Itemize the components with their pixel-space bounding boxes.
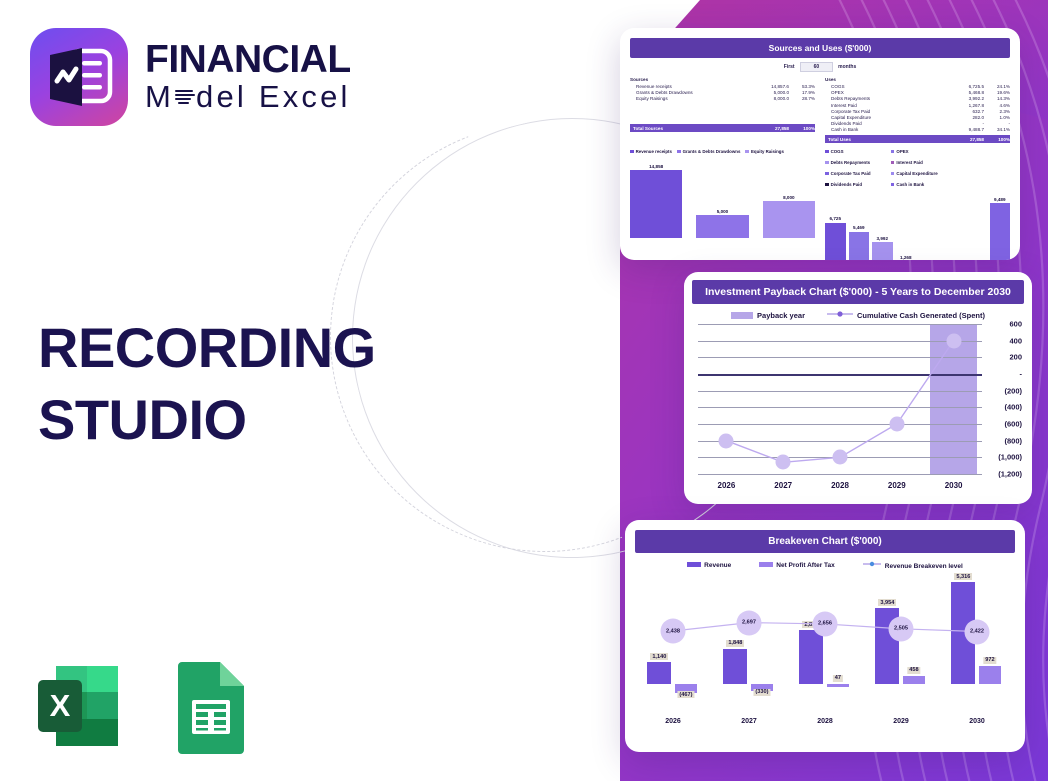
gridline (698, 474, 982, 475)
investment-payback-panel[interactable]: Investment Payback Chart ($'000) - 5 Yea… (684, 272, 1032, 504)
logo-line2-suffix: del Excel (196, 80, 351, 114)
sources-bar-chart: 14,8585,0008,000 (630, 154, 815, 238)
logo-stacked-o-glyph (175, 86, 195, 108)
breakeven-data-point: 2,438 (661, 619, 686, 644)
microsoft-excel-icon: X (30, 658, 126, 754)
use-value: 5,468.8 (946, 90, 984, 95)
use-value: 1,267.8 (946, 103, 984, 108)
svg-text:X: X (50, 688, 71, 723)
uses-total-value: 27,858 (946, 137, 984, 142)
breakeven-x-axis-labels: 20262027202820292030 (635, 718, 1015, 725)
uses-header: Uses (825, 77, 1010, 82)
legend-breakeven-level-label: Revenue Breakeven level (885, 563, 963, 570)
source-pct: 28.7% (789, 96, 815, 101)
legend-swatch (891, 150, 895, 154)
payback-chart-title: Investment Payback Chart ($'000) - 5 Yea… (692, 280, 1024, 304)
use-row: OPEX5,468.819.6% (825, 90, 1010, 96)
payback-x-axis-labels: 20262027202820292030 (698, 481, 982, 490)
legend-item: Corporate Tax Paid (825, 171, 885, 176)
legend-net-profit-label: Net Profit After Tax (776, 562, 835, 569)
source-value: 8,000.0 (751, 96, 789, 101)
use-label: Capital Expenditure (825, 115, 946, 120)
use-pct: 24.1% (984, 84, 1010, 89)
legend-swatch (630, 150, 634, 154)
uses-bar-chart: 6,7255,4693,9921,26863328209,489 (825, 187, 1010, 260)
legend-revenue-label: Revenue (704, 562, 731, 569)
use-row: Cash in Bank9,488.734.1% (825, 127, 1010, 133)
legend-swatch (825, 161, 829, 165)
use-value: - (946, 121, 984, 126)
bar-column: 9,489 (990, 187, 1011, 260)
legend-swatch (825, 172, 829, 176)
breakeven-plot-area: 1,1401,8482,8143,9545,316(467)(330)47458… (635, 574, 1015, 714)
bar-value-label: 5,469 (853, 225, 865, 230)
x-axis-tick-label: 2028 (812, 481, 869, 490)
y-axis-tick-label: (200) (1004, 386, 1022, 395)
y-axis-tick-label: (800) (1004, 436, 1022, 445)
months-input[interactable]: 60 (800, 62, 834, 72)
logo-title-line1: FINANCIAL (145, 40, 351, 80)
legend-label: Capital Expenditure (896, 171, 937, 176)
use-pct: 4.6% (984, 103, 1010, 108)
source-value: 5,000.0 (751, 90, 789, 95)
uses-total-label: Total Uses (825, 137, 946, 142)
legend-swatch (891, 161, 895, 165)
source-row: Revenue receipts14,857.653.3% (630, 84, 815, 90)
bar (990, 203, 1011, 260)
x-axis-tick-label: 2029 (863, 718, 939, 725)
first-label: First (784, 64, 795, 70)
uses-column: Uses COGS6,725.524.1%OPEX5,468.819.6%Deb… (825, 77, 1010, 143)
page-title-line2: STUDIO (38, 384, 376, 456)
sources-column: Sources Revenue receipts14,857.653.3%Gra… (630, 77, 815, 143)
first-months-row: First 60 months (630, 62, 1010, 72)
y-axis-tick-label: (600) (1004, 420, 1022, 429)
data-point (719, 433, 734, 448)
sources-total-label: Total Sources (630, 126, 751, 131)
use-value: 6,725.5 (946, 84, 984, 89)
data-point (946, 333, 961, 348)
legend-swatch (745, 150, 749, 154)
legend-label: Corporate Tax Paid (831, 171, 871, 176)
bar-column: 633 (919, 187, 940, 260)
use-pct: 1.0% (984, 115, 1010, 120)
breakeven-line-swatch (863, 560, 881, 568)
uses-total-row: Total Uses 27,858 100% (825, 135, 1010, 143)
use-label: COGS (825, 84, 946, 89)
legend-item: OPEX (891, 149, 951, 154)
use-value: 3,992.2 (946, 96, 984, 101)
bar-column: 8,000 (763, 154, 815, 238)
use-label: OPEX (825, 90, 946, 95)
logo-line2-prefix: M (145, 80, 174, 114)
legend-swatch (891, 183, 895, 187)
app-format-icons: X (30, 658, 250, 754)
y-axis-tick-label: (1,200) (998, 470, 1022, 479)
legend-item: Interest Paid (891, 160, 951, 165)
use-label: Corporate Tax Paid (825, 109, 946, 114)
y-axis-tick-label: (400) (1004, 403, 1022, 412)
bar (825, 223, 846, 260)
legend-label: COGS (831, 149, 844, 154)
use-label: Dividends Paid (825, 121, 946, 126)
legend-payback-year-label: Payback year (757, 311, 805, 320)
legend-label: Debts Repayments (831, 160, 871, 165)
breakeven-panel[interactable]: Breakeven Chart ($'000) Revenue Net Prof… (625, 520, 1025, 752)
logo-title-line2: M del Excel (145, 80, 351, 114)
use-row: COGS6,725.524.1% (825, 84, 1010, 90)
use-row: Interest Paid1,267.84.6% (825, 102, 1010, 108)
legend-item: Capital Expenditure (891, 171, 951, 176)
payback-year-swatch (731, 312, 753, 319)
bar-column: 5,000 (696, 154, 748, 238)
source-row: Equity Raisings8,000.028.7% (630, 96, 815, 102)
source-pct: 17.9% (789, 90, 815, 95)
use-pct: 19.6% (984, 90, 1010, 95)
use-value: 632.7 (946, 109, 984, 114)
x-axis-tick-label: 2027 (755, 481, 812, 490)
legend-payback-year: Payback year (731, 311, 805, 320)
payback-plot-area: 600400200-(200)(400)(600)(800)(1,000)(1,… (698, 324, 982, 474)
use-label: Interest Paid (825, 103, 946, 108)
x-axis-tick-label: 2028 (787, 718, 863, 725)
bar-value-label: 5,000 (717, 209, 729, 214)
bar-value-label: 9,489 (994, 197, 1006, 202)
data-point (776, 455, 791, 470)
financial-model-excel-logo-icon (30, 28, 128, 126)
use-value: 282.0 (946, 115, 984, 120)
legend-revenue: Revenue (687, 562, 731, 569)
legend-swatch (825, 183, 829, 187)
x-axis-tick-label: 2026 (698, 481, 755, 490)
legend-label: OPEX (896, 149, 908, 154)
source-row: Grants & Debts Drawdowns5,000.017.9% (630, 90, 815, 96)
bar-value-label: 14,858 (649, 164, 663, 169)
sources-total-row: Total Sources 27,858 100% (630, 124, 815, 132)
bar (849, 232, 870, 260)
uses-chart-legend: COGSOPEXDebts RepaymentsInterest PaidCor… (825, 149, 1010, 187)
months-label: months (838, 64, 856, 70)
legend-item: COGS (825, 149, 885, 154)
payback-chart-legend: Payback year Cumulative Cash Generated (… (692, 310, 1024, 320)
bar-column: 14,858 (630, 154, 682, 238)
legend-label: Interest Paid (896, 160, 922, 165)
x-axis-tick-label: 2026 (635, 718, 711, 725)
bar-column: 282 (943, 187, 964, 260)
x-axis-tick-label: 2030 (925, 481, 982, 490)
source-value: 14,857.6 (751, 84, 789, 89)
breakeven-data-point: 2,422 (965, 619, 990, 644)
bar (630, 170, 682, 238)
legend-net-profit: Net Profit After Tax (759, 562, 835, 569)
x-axis-tick-label: 2027 (711, 718, 787, 725)
bar-value-label: 6,725 (830, 216, 842, 221)
sources-total-value: 27,858 (751, 126, 789, 131)
legend-breakeven-level: Revenue Breakeven level (863, 560, 963, 570)
y-axis-tick-label: 200 (1009, 353, 1022, 362)
use-pct: 34.1% (984, 127, 1010, 132)
page-title: RECORDING STUDIO (38, 312, 376, 455)
bar-column: 0 (966, 187, 987, 260)
breakeven-level-line (635, 574, 1015, 714)
use-row: Dividends Paid-- (825, 121, 1010, 127)
legend-item: Debts Repayments (825, 160, 885, 165)
google-sheets-icon (172, 658, 250, 754)
sources-total-pct: 100% (789, 126, 815, 131)
cumulative-cash-line-swatch (827, 310, 853, 318)
y-axis-tick-label: 400 (1009, 336, 1022, 345)
bar-column: 3,992 (872, 187, 893, 260)
breakeven-data-point: 2,697 (737, 610, 762, 635)
y-axis-tick-label: 600 (1009, 320, 1022, 329)
source-label: Revenue receipts (630, 84, 751, 89)
legend-cumulative-cash-label: Cumulative Cash Generated (Spent) (857, 311, 985, 320)
data-point (833, 450, 848, 465)
bar-value-label: 3,992 (877, 236, 889, 241)
uses-total-pct: 100% (984, 137, 1010, 142)
use-row: Corporate Tax Paid632.72.3% (825, 108, 1010, 114)
x-axis-tick-label: 2030 (939, 718, 1015, 725)
sources-and-uses-panel[interactable]: Sources and Uses ($'000) First 60 months… (620, 28, 1020, 260)
sources-uses-table: Sources Revenue receipts14,857.653.3%Gra… (630, 77, 1010, 143)
sources-header: Sources (630, 77, 815, 82)
use-row: Capital Expenditure282.01.0% (825, 114, 1010, 120)
net-profit-swatch (759, 562, 773, 567)
legend-swatch (891, 172, 895, 176)
legend-cumulative-cash: Cumulative Cash Generated (Spent) (827, 310, 985, 320)
bar (696, 215, 748, 238)
bar-value-label: 1,268 (900, 255, 912, 260)
source-label: Equity Raisings (630, 96, 751, 101)
use-label: Cash in Bank (825, 127, 946, 132)
use-value: 9,488.7 (946, 127, 984, 132)
bar-column: 1,268 (896, 187, 917, 260)
use-pct: - (984, 121, 1010, 126)
use-pct: 14.3% (984, 96, 1010, 101)
bar-column: 6,725 (825, 187, 846, 260)
y-axis-tick-label: (1,000) (998, 453, 1022, 462)
breakeven-chart-legend: Revenue Net Profit After Tax Revenue Bre… (635, 560, 1015, 570)
breakeven-data-point: 2,505 (889, 616, 914, 641)
bar (872, 242, 893, 260)
brand-logo: FINANCIAL M del Excel (30, 28, 351, 126)
legend-swatch (677, 150, 681, 154)
source-pct: 53.3% (789, 84, 815, 89)
legend-swatch (825, 150, 829, 154)
y-axis-tick-label: - (1020, 370, 1023, 379)
x-axis-tick-label: 2029 (868, 481, 925, 490)
data-point (889, 417, 904, 432)
sources-uses-title: Sources and Uses ($'000) (630, 38, 1010, 58)
bar (763, 201, 815, 238)
page-title-line1: RECORDING (38, 312, 376, 384)
revenue-swatch (687, 562, 701, 567)
use-label: Debts Repayments (825, 96, 946, 101)
use-pct: 2.3% (984, 109, 1010, 114)
breakeven-chart-title: Breakeven Chart ($'000) (635, 530, 1015, 553)
bar-value-label: 8,000 (783, 195, 795, 200)
use-row: Debts Repayments3,992.214.3% (825, 96, 1010, 102)
source-label: Grants & Debts Drawdowns (630, 90, 751, 95)
bar-column: 5,469 (849, 187, 870, 260)
breakeven-data-point: 2,656 (813, 611, 838, 636)
